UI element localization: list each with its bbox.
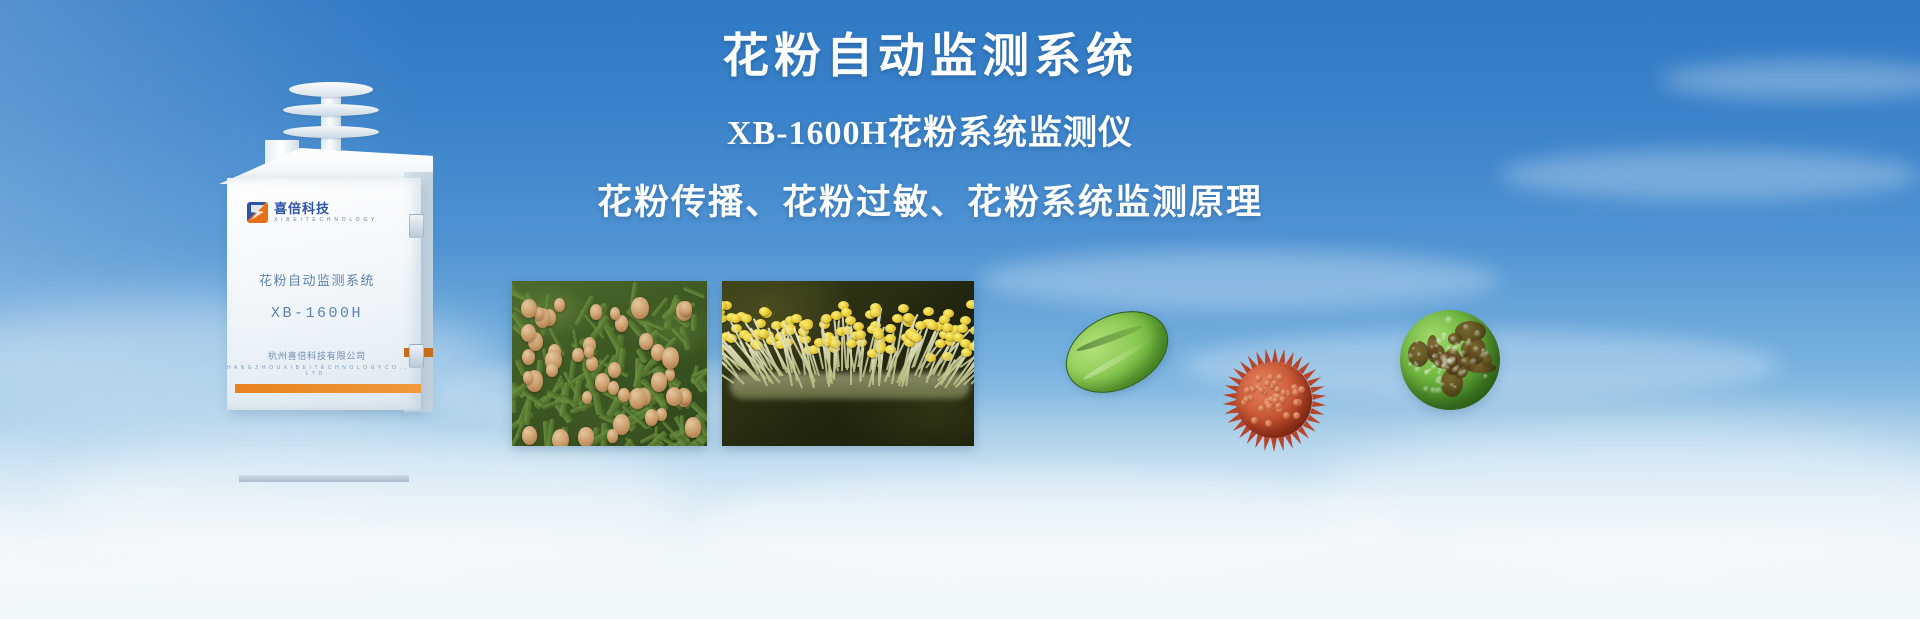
pollen-cone-shape bbox=[666, 387, 682, 407]
pollen-cone-shape bbox=[618, 388, 630, 403]
grain-bump bbox=[1276, 374, 1283, 381]
grain-pore bbox=[1414, 366, 1422, 374]
pollen-cone-shape bbox=[608, 362, 621, 378]
grain-bump bbox=[1243, 396, 1250, 403]
device-panel-title: 花粉自动监测系统 bbox=[227, 270, 407, 289]
grain-pore bbox=[1423, 386, 1429, 392]
subtitle-topics: 花粉传播、花粉过敏、花粉系统监测原理 bbox=[560, 174, 1300, 225]
pollen-cone-shape bbox=[608, 381, 619, 395]
inlet-tube bbox=[321, 90, 341, 150]
cabinet-base bbox=[239, 475, 409, 482]
page-title: 花粉自动监测系统 bbox=[560, 28, 1300, 83]
brand-name-en: X I B E I T E C H N O L O G Y bbox=[274, 218, 376, 223]
pollen-cone-shape bbox=[546, 363, 558, 377]
xibei-logo-icon bbox=[247, 202, 268, 223]
device-company-cn: 杭州喜倍科技有限公司 bbox=[227, 349, 407, 362]
cloud-shape bbox=[1320, 420, 1920, 570]
pollen-cone-shape bbox=[610, 307, 620, 320]
catkin-filament bbox=[878, 334, 880, 382]
pollen-cone-shape bbox=[521, 299, 537, 318]
catkin-anther bbox=[873, 330, 884, 339]
headline-block: 花粉自动监测系统 XB-1600H花粉系统监测仪 花粉传播、花粉过敏、花粉系统监… bbox=[560, 28, 1300, 225]
grain-pore bbox=[1435, 387, 1442, 394]
subtitle-model: XB-1600H花粉系统监测仪 bbox=[560, 105, 1300, 154]
grain-bump bbox=[1258, 387, 1265, 394]
device-company-en: H A N G Z H O U X I B E I T E C H N O L … bbox=[227, 365, 407, 377]
grain-bump bbox=[1292, 389, 1299, 396]
grain-pore bbox=[1465, 340, 1472, 347]
device-brand-logo: 喜倍科技 X I B E I T E C H N O L O G Y bbox=[247, 202, 376, 223]
device-cabinet: 喜倍科技 X I B E I T E C H N O L O G Y 花粉自动监… bbox=[219, 148, 433, 410]
catkin-anther bbox=[957, 324, 968, 333]
pollen-cone-shape bbox=[523, 371, 533, 384]
catkin-anther bbox=[846, 339, 857, 348]
catkin-anther bbox=[923, 307, 934, 316]
pollen-cone-shape bbox=[629, 388, 646, 409]
device-accent-stripe bbox=[235, 384, 421, 393]
grain-pore bbox=[1445, 316, 1453, 324]
pollen-cone-shape bbox=[552, 429, 569, 446]
catkin-anther bbox=[966, 300, 975, 309]
pollen-cone-shape bbox=[680, 301, 692, 316]
pollen-cone-shape bbox=[590, 304, 602, 320]
grain-bump bbox=[1293, 412, 1300, 419]
catkin-anther bbox=[802, 321, 813, 330]
pollen-cone-shape bbox=[607, 429, 618, 443]
cabinet-front-panel: 喜倍科技 X I B E I T E C H N O L O G Y 花粉自动监… bbox=[227, 178, 421, 410]
inlet-disc bbox=[283, 104, 379, 116]
grain-pore bbox=[1454, 342, 1461, 349]
grain-pore bbox=[1432, 355, 1435, 358]
catkin-anther bbox=[885, 334, 896, 343]
catkin-anther bbox=[853, 322, 864, 331]
pollen-cone-shape bbox=[639, 333, 653, 350]
pollen-cone-shape bbox=[584, 345, 594, 358]
cypress-cones-photo bbox=[512, 281, 707, 446]
cloud-shape bbox=[700, 470, 1400, 580]
catkin-anther bbox=[969, 342, 974, 351]
catkin-anther bbox=[903, 313, 914, 322]
brand-name-cn: 喜倍科技 bbox=[274, 202, 376, 215]
cabinet-latch-lower[interactable] bbox=[409, 344, 424, 368]
catkin-anther bbox=[870, 308, 881, 317]
grain-pore bbox=[1483, 374, 1488, 379]
catkin-anther bbox=[927, 321, 938, 330]
green-oval-pollen-grain bbox=[1052, 295, 1182, 409]
grain-pore bbox=[1458, 370, 1464, 376]
grain-pore bbox=[1408, 353, 1414, 359]
cloud-shape bbox=[1500, 150, 1920, 200]
grain-pore bbox=[1438, 368, 1443, 373]
grain-bump bbox=[1266, 403, 1273, 410]
grain-pore bbox=[1442, 337, 1446, 341]
grain-pore bbox=[1431, 364, 1437, 370]
grain-pore bbox=[1463, 324, 1469, 330]
grain-pore bbox=[1446, 345, 1453, 352]
pollen-monitoring-banner: 花粉自动监测系统 XB-1600H花粉系统监测仪 花粉传播、花粉过敏、花粉系统监… bbox=[0, 0, 1920, 619]
inlet-disc bbox=[283, 126, 379, 138]
grain-bump bbox=[1279, 396, 1286, 403]
pollen-cone-shape bbox=[578, 427, 593, 446]
catkin-anther bbox=[892, 314, 903, 323]
cloud-shape bbox=[980, 250, 1500, 310]
grain-pore bbox=[1415, 340, 1419, 344]
pollen-cone-shape bbox=[554, 298, 565, 312]
grain-pore bbox=[1417, 352, 1422, 357]
grain-blotch bbox=[1466, 363, 1496, 373]
pollen-cone-shape bbox=[685, 417, 702, 438]
catkin-anther bbox=[730, 314, 741, 323]
pollen-monitor-device: 喜倍科技 X I B E I T E C H N O L O G Y 花粉自动监… bbox=[205, 82, 455, 427]
catkin-anther bbox=[759, 307, 770, 316]
red-spiky-pollen-grain bbox=[1222, 348, 1326, 452]
cloud-shape bbox=[1660, 60, 1920, 100]
yellow-catkin-photo bbox=[722, 281, 974, 446]
inlet-cap bbox=[289, 82, 373, 97]
green-textured-pollen-grain bbox=[1400, 310, 1500, 410]
cabinet-latch-upper[interactable] bbox=[409, 214, 424, 238]
pollen-cone-shape bbox=[572, 348, 584, 363]
grain-pore bbox=[1461, 358, 1467, 364]
grain-bump bbox=[1255, 375, 1262, 382]
pollen-cone-shape bbox=[631, 297, 649, 319]
cloud-shape bbox=[60, 430, 680, 570]
pollen-cone-shape bbox=[662, 347, 679, 369]
device-model-number: XB-1600H bbox=[227, 305, 407, 322]
needle-shape bbox=[691, 314, 697, 331]
